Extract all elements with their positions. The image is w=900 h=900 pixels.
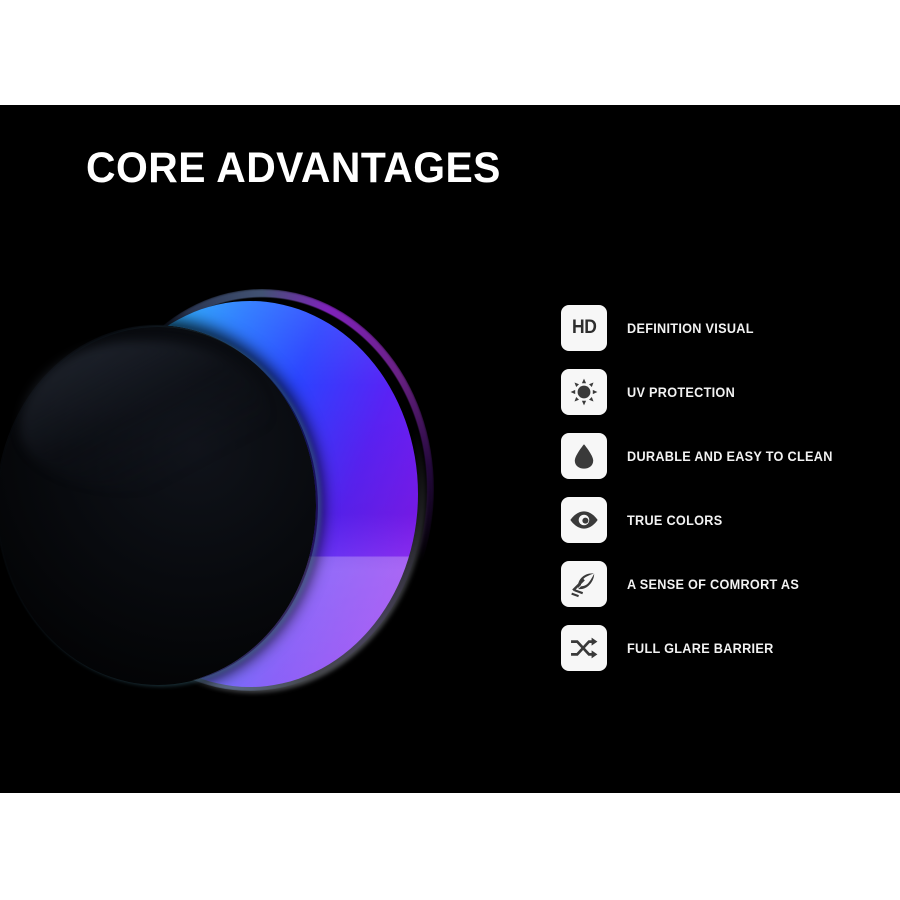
shuffle-icon <box>561 625 607 671</box>
droplet-icon <box>561 433 607 479</box>
promo-panel: CORE ADVANTAGES HD DEFINITION VISUAL <box>0 105 900 793</box>
feature-item-sense-of-comfort: A SENSE OF COMRORT AS <box>561 561 881 607</box>
feather-icon <box>561 561 607 607</box>
feature-label: A SENSE OF COMRORT AS <box>627 577 799 592</box>
hd-icon: HD <box>561 305 607 351</box>
feature-item-durable-easy-clean: DURABLE AND EASY TO CLEAN <box>561 433 881 479</box>
screenshot-stage: CORE ADVANTAGES HD DEFINITION VISUAL <box>0 0 900 900</box>
eye-icon <box>561 497 607 543</box>
feature-item-full-glare-barrier: FULL GLARE BARRIER <box>561 625 881 671</box>
feature-label: UV PROTECTION <box>627 385 735 400</box>
feature-label: FULL GLARE BARRIER <box>627 641 774 656</box>
feature-label: DURABLE AND EASY TO CLEAN <box>627 449 833 464</box>
hd-icon-text: HD <box>572 317 596 339</box>
feature-item-true-colors: TRUE COLORS <box>561 497 881 543</box>
feature-label: TRUE COLORS <box>627 513 722 528</box>
feature-label: DEFINITION VISUAL <box>627 321 754 336</box>
lens-graphic <box>72 283 452 703</box>
lens-terminator-rimlight <box>0 327 318 685</box>
feature-item-definition-visual: HD DEFINITION VISUAL <box>561 305 881 351</box>
page-title: CORE ADVANTAGES <box>86 147 501 190</box>
sun-icon <box>561 369 607 415</box>
feature-list: HD DEFINITION VISUAL <box>561 305 881 671</box>
feature-item-uv-protection: UV PROTECTION <box>561 369 881 415</box>
